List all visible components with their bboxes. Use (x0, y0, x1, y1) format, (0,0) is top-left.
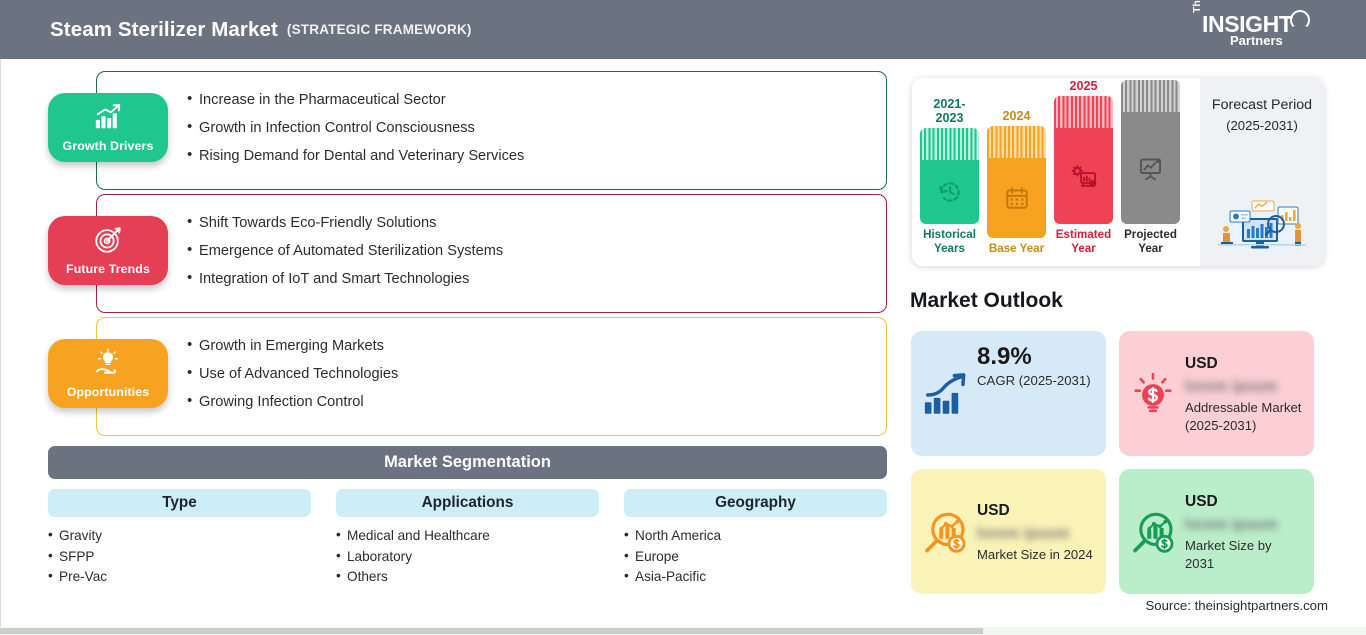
market-segmentation-title: Market Segmentation (48, 446, 887, 479)
value-redacted: lorem ipsum (977, 525, 1095, 542)
list-item: Others (336, 567, 599, 588)
left-column: Increase in the Pharmaceutical Sector Gr… (0, 59, 900, 635)
timeline-bar-historical: 2021-2023 Historical Years (920, 97, 979, 256)
list-item: Emergence of Automated Sterilization Sys… (187, 237, 886, 265)
calendar-icon (1004, 185, 1030, 211)
segment-list: North America Europe Asia-Pacific (624, 526, 887, 588)
value-redacted: lorem ipsum (1185, 378, 1303, 395)
timeline-bars: 2021-2023 Historical Years (912, 78, 1200, 266)
source-attribution: Source: theinsightpartners.com (1145, 598, 1328, 613)
growth-drivers-badge[interactable]: Growth Drivers (48, 93, 168, 162)
market-size-2024-card: USD lorem ipsum Market Size in 2024 (911, 469, 1106, 594)
list-item: Medical and Healthcare (336, 526, 599, 547)
list-item: Rising Demand for Dental and Veterinary … (187, 142, 886, 170)
list-item: Growing Infection Control (187, 388, 886, 416)
segment-list: Medical and Healthcare Laboratory Others (336, 526, 599, 588)
list-item: Increase in the Pharmaceutical Sector (187, 86, 886, 114)
list-item: Growth in Emerging Markets (187, 332, 886, 360)
segment-column-applications: Applications Medical and Healthcare Labo… (336, 489, 599, 588)
segment-header: Geography (624, 489, 887, 517)
badge-label: Opportunities (67, 385, 150, 399)
market-outlook-title: Market Outlook (910, 289, 1063, 313)
bar-stripe-top (987, 126, 1046, 158)
future-trends-bullets: Shift Towards Eco-Friendly Solutions Eme… (97, 195, 886, 294)
bar-chart-arrow-icon (922, 372, 968, 418)
forecast-period-range: (2025-2031) (1226, 118, 1298, 133)
insight-partners-logo: The INSIGHT Partners (1190, 9, 1310, 51)
bar-caption: Projected Year (1121, 228, 1180, 256)
right-column: 2021-2023 Historical Years (900, 59, 1366, 635)
badge-label: Growth Drivers (63, 139, 154, 153)
badge-label: Future Trends (66, 262, 150, 276)
list-item: Use of Advanced Technologies (187, 360, 886, 388)
scrollbar-thumb[interactable] (0, 628, 983, 634)
segment-column-geography: Geography North America Europe Asia-Paci… (624, 489, 887, 588)
growth-drivers-bullets: Increase in the Pharmaceutical Sector Gr… (97, 72, 886, 171)
presentation-chart-icon (1137, 155, 1164, 182)
list-item: Asia-Pacific (624, 567, 887, 588)
bar-stripe-top (1054, 96, 1113, 128)
logo-partners-text: Partners (1230, 33, 1283, 48)
bar-chart-growth-icon (93, 102, 123, 132)
card-caption: Addressable Market (2025-2031) (1185, 399, 1303, 434)
list-item: Europe (624, 547, 887, 568)
future-trends-badge[interactable]: Future Trends (48, 216, 168, 285)
clock-rewind-icon (937, 179, 963, 205)
forecast-period-panel: Forecast Period (2025-2031) (1200, 78, 1324, 266)
opportunities-panel: Growth in Emerging Markets Use of Advanc… (96, 317, 887, 436)
card-caption: Market Size in 2024 (977, 546, 1095, 564)
timeline-bar-base: 2024 Base Year (987, 109, 1046, 256)
timeline-bar-estimated: 2025 (1054, 79, 1113, 256)
value-redacted: lorem ipsum (1185, 516, 1303, 533)
target-dartboard-icon (93, 225, 123, 255)
list-item: Laboratory (336, 547, 599, 568)
market-outlook-cards: 8.9% CAGR (2025-2031) (911, 331, 1331, 594)
list-item: Gravity (48, 526, 311, 547)
addressable-market-card: USD lorem ipsum Addressable Market (2025… (1119, 331, 1314, 456)
magnifier-bar-chart-orange-icon (922, 510, 968, 556)
segment-column-type: Type Gravity SFPP Pre-Vac (48, 489, 311, 588)
page-header: Steam Sterilizer Market (STRATEGIC FRAME… (0, 0, 1366, 59)
forecast-period-title: Forecast Period (1212, 96, 1312, 115)
segment-list: Gravity SFPP Pre-Vac (48, 526, 311, 588)
bar-caption: Base Year (987, 242, 1046, 256)
cagr-label: CAGR (2025-2031) (977, 373, 1095, 388)
bar-stripe-top (1121, 80, 1180, 112)
horizontal-scrollbar[interactable] (0, 627, 1366, 635)
segment-header: Type (48, 489, 311, 517)
market-size-2031-card: USD lorem ipsum Market Size by 2031 (1119, 469, 1314, 594)
currency-label: USD (977, 502, 1095, 520)
list-item: Pre-Vac (48, 567, 311, 588)
bar-stripe-top (920, 128, 979, 160)
currency-label: USD (1185, 355, 1303, 373)
page-subtitle: (STRATEGIC FRAMEWORK) (287, 22, 472, 37)
gear-chart-icon (1070, 162, 1098, 190)
opportunities-badge[interactable]: Opportunities (48, 339, 168, 408)
list-item: North America (624, 526, 887, 547)
infographic-page: Steam Sterilizer Market (STRATEGIC FRAME… (0, 0, 1366, 635)
list-item: SFPP (48, 547, 311, 568)
bar-caption: Estimated Year (1054, 228, 1113, 256)
market-segmentation-columns: Type Gravity SFPP Pre-Vac Applications M… (48, 489, 888, 588)
page-title: Steam Sterilizer Market (50, 18, 278, 42)
data-analysis-illustration (1208, 196, 1316, 258)
list-item: Shift Towards Eco-Friendly Solutions (187, 209, 886, 237)
forecast-timeline-card: 2021-2023 Historical Years (912, 78, 1324, 266)
bar-year-label: 2025 (1054, 79, 1113, 93)
opportunities-bullets: Growth in Emerging Markets Use of Advanc… (97, 318, 886, 417)
bar-year-label: 2024 (987, 109, 1046, 123)
future-trends-panel: Shift Towards Eco-Friendly Solutions Eme… (96, 194, 887, 313)
list-item: Growth in Infection Control Consciousnes… (187, 114, 886, 142)
cagr-card: 8.9% CAGR (2025-2031) (911, 331, 1106, 456)
growth-drivers-panel: Increase in the Pharmaceutical Sector Gr… (96, 71, 887, 190)
segment-header: Applications (336, 489, 599, 517)
currency-label: USD (1185, 493, 1303, 511)
card-caption: Market Size by 2031 (1185, 537, 1303, 572)
list-item: Integration of IoT and Smart Technologie… (187, 265, 886, 293)
cagr-value: 8.9% (977, 343, 1095, 371)
magnifier-bar-chart-green-icon (1130, 510, 1176, 556)
logo-arc-icon (1290, 10, 1310, 30)
bar-year-label: 2021-2023 (920, 97, 979, 125)
bar-caption: Historical Years (920, 228, 979, 256)
hand-lightbulb-icon (93, 348, 123, 378)
lightbulb-dollar-icon (1130, 372, 1176, 418)
timeline-bar-projected: 2031 Projected Year (1121, 78, 1180, 256)
